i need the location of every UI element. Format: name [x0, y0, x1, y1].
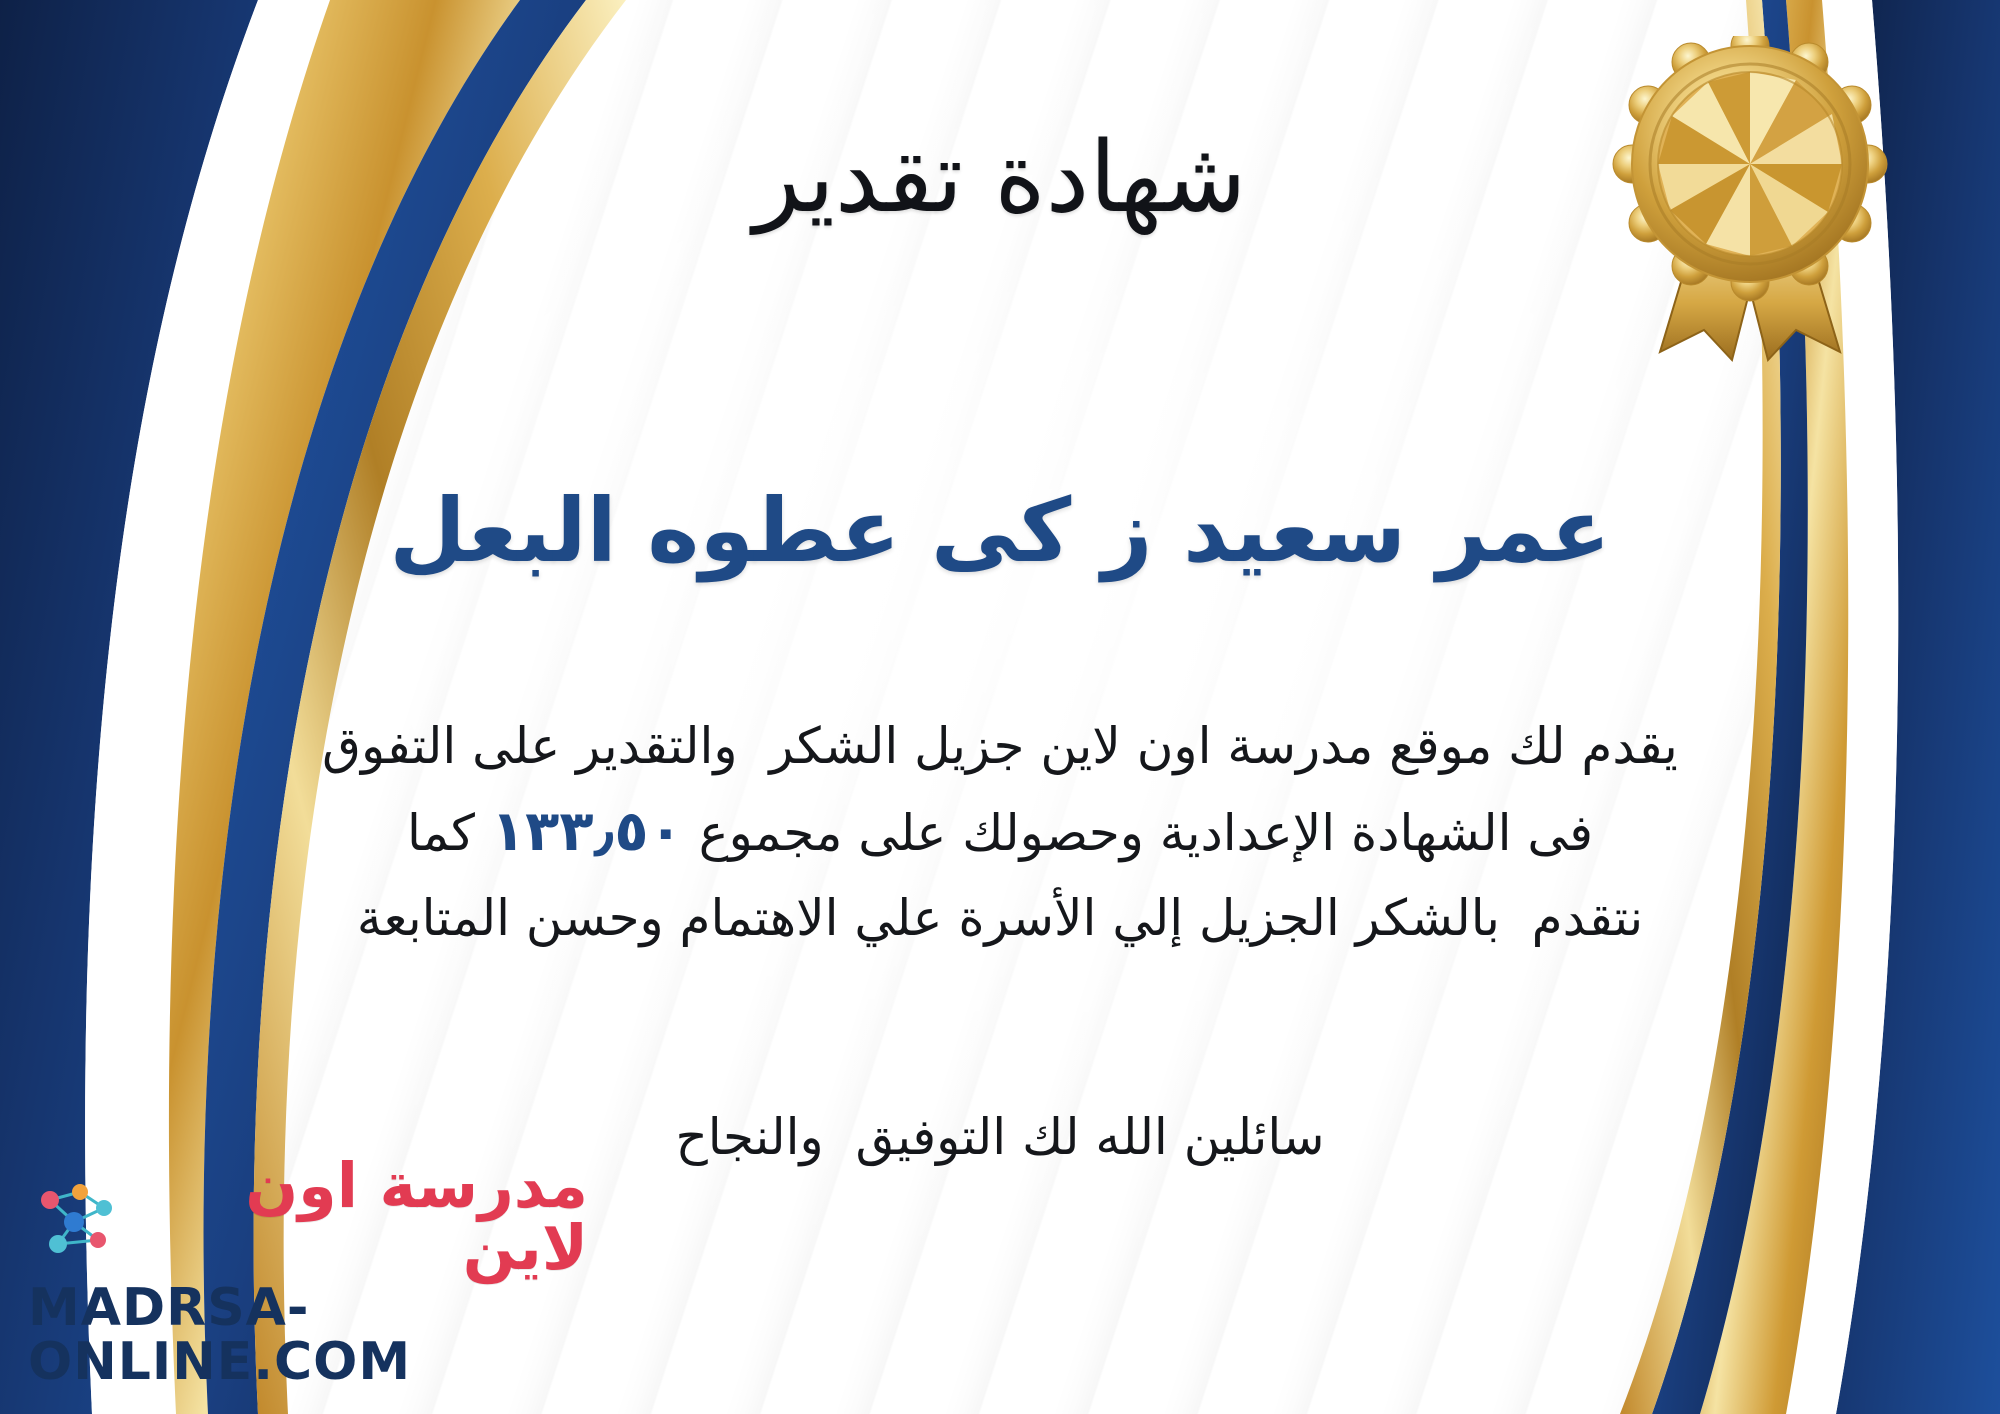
- recipient-name: عمر سعيد ز كى عطوه البعل: [0, 480, 2000, 581]
- body-line-1: يقدم لك موقع مدرسة اون لاين جزيل الشكر و…: [250, 706, 1750, 787]
- body-line-2: فى الشهادة الإعدادية وحصولك على مجموع١٣٣…: [250, 787, 1750, 878]
- total-score-value: ١٣٣٫٥٠: [475, 799, 699, 864]
- certificate-title: شهادة تقدير: [0, 124, 2000, 234]
- brand-website-url[interactable]: MADRSA-ONLINE.COM: [28, 1281, 588, 1390]
- certificate-body: يقدم لك موقع مدرسة اون لاين جزيل الشكر و…: [250, 706, 1750, 959]
- body-line-3: نتقدم بالشكر الجزيل إلي الأسرة علي الاهت…: [250, 878, 1750, 959]
- brand-logo[interactable]: مدرسة اون لاين MADRSA-ONLINE.COM: [28, 1155, 588, 1390]
- network-nodes-icon: [28, 1178, 120, 1256]
- brand-name-arabic: مدرسة اون لاين: [134, 1155, 588, 1279]
- brand-name-row: مدرسة اون لاين: [28, 1155, 588, 1279]
- certificate-canvas: شهادة تقدير عمر سعيد ز كى عطوه البعل يقد…: [0, 0, 2000, 1414]
- body-line-2-suffix: كما: [407, 804, 475, 862]
- body-line-2-prefix: فى الشهادة الإعدادية وحصولك على مجموع: [699, 804, 1593, 862]
